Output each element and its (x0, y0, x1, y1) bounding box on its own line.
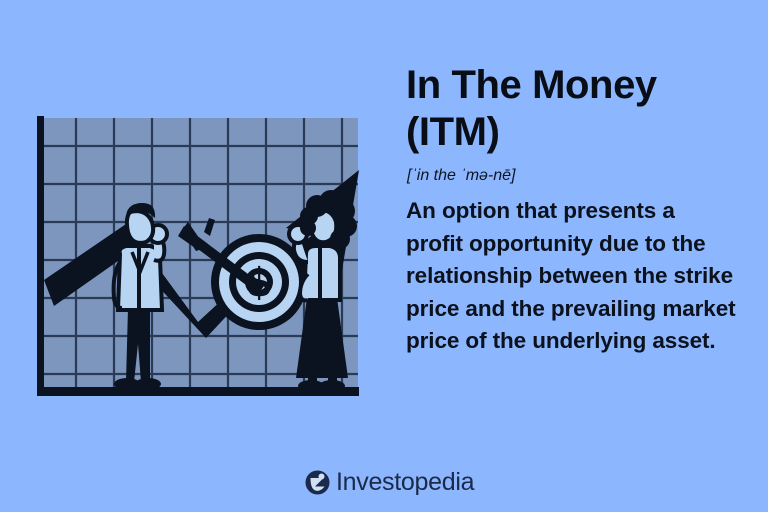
investopedia-circle-swoosh-icon (305, 470, 330, 495)
definition-block: In The Money (ITM) [ˈin the ˈmə-nē] An o… (406, 62, 736, 358)
page-title: In The Money (ITM) (406, 62, 736, 156)
investopedia-logo: Investopedia (305, 470, 474, 495)
definition-text: An option that presents a profit opportu… (406, 195, 736, 358)
illustration: $ (28, 112, 372, 408)
chart-y-axis (37, 116, 44, 394)
logo-wordmark: Investopedia (336, 470, 474, 495)
infographic-card: $ (0, 0, 768, 512)
pronunciation-text: [ˈin the ˈmə-nē] (407, 165, 736, 187)
